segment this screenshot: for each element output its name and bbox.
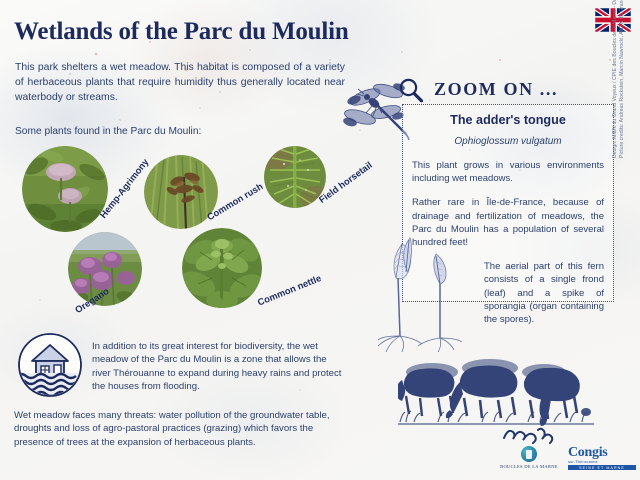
species-common-name: The adder's tongue (412, 113, 604, 127)
grazing-sheep-illustration (398, 352, 598, 430)
credits-line-2: Picture credits: Andreas Rockstein, Marc… (619, 0, 626, 158)
plant-field-horsetail: Field horsetail (264, 146, 326, 208)
plant-photo-hemp-agrimony (22, 146, 108, 232)
boucles-de-la-marne-logo: BOUCLES DE LA MARNE (498, 446, 560, 469)
house-flood-icon (18, 333, 82, 397)
mien-grand-voyeux-logo (498, 424, 560, 444)
congis-logo-sub: sur-Thérouanne (568, 460, 636, 464)
species-paragraph-1: This plant grows in various environments… (412, 159, 604, 185)
threats-paragraph: Wet meadow faces many threats: water pol… (14, 409, 344, 449)
credits-line-1: Design: MIEN du Grand Voyeux / CPIE des … (612, 0, 619, 158)
plant-photo-common-rush (144, 155, 218, 229)
marne-orb-icon (521, 446, 537, 462)
page-title: Wetlands of the Parc du Moulin (14, 18, 349, 46)
plant-label-field-horsetail: Field horsetail (317, 160, 374, 205)
adders-tongue-fern-illustration (378, 232, 474, 360)
zoom-panel-title: ZOOM ON ... (434, 79, 558, 100)
plant-hemp-agrimony: Hemp-Agrimony (22, 146, 108, 232)
infographic-poster: Wetlands of the Parc du Moulin This park… (0, 0, 640, 480)
congis-logo-bar: SEINE ET MARNE (568, 465, 636, 470)
species-paragraph-3: The aerial part of this fern consists of… (484, 260, 604, 326)
zoom-panel-header: ZOOM ON ... (398, 76, 636, 104)
intro-paragraph: This park shelters a wet meadow. This ha… (15, 60, 345, 105)
magnifier-icon (398, 77, 424, 103)
plants-caption: Some plants found in the Parc du Moulin: (15, 126, 201, 137)
plant-photo-field-horsetail (264, 146, 326, 208)
plant-common-nettle: Common nettle (182, 228, 262, 308)
marne-logo-caption: BOUCLES DE LA MARNE (498, 464, 560, 469)
plant-photo-common-nettle (182, 228, 262, 308)
congis-logo-word: Congis (568, 446, 636, 460)
congis-logo: Congis sur-Thérouanne SEINE ET MARNE (568, 446, 636, 470)
plant-label-common-nettle: Common nettle (256, 273, 322, 308)
plant-oregano: Oregano (68, 232, 142, 306)
plant-common-rush: Common rush (144, 155, 218, 229)
credits-block: Design: MIEN du Grand Voyeux / CPIE des … (612, 0, 626, 158)
species-latin-name: Ophioglossum vulgatum (412, 136, 604, 147)
flood-paragraph: In addition to its great interest for bi… (92, 340, 342, 394)
